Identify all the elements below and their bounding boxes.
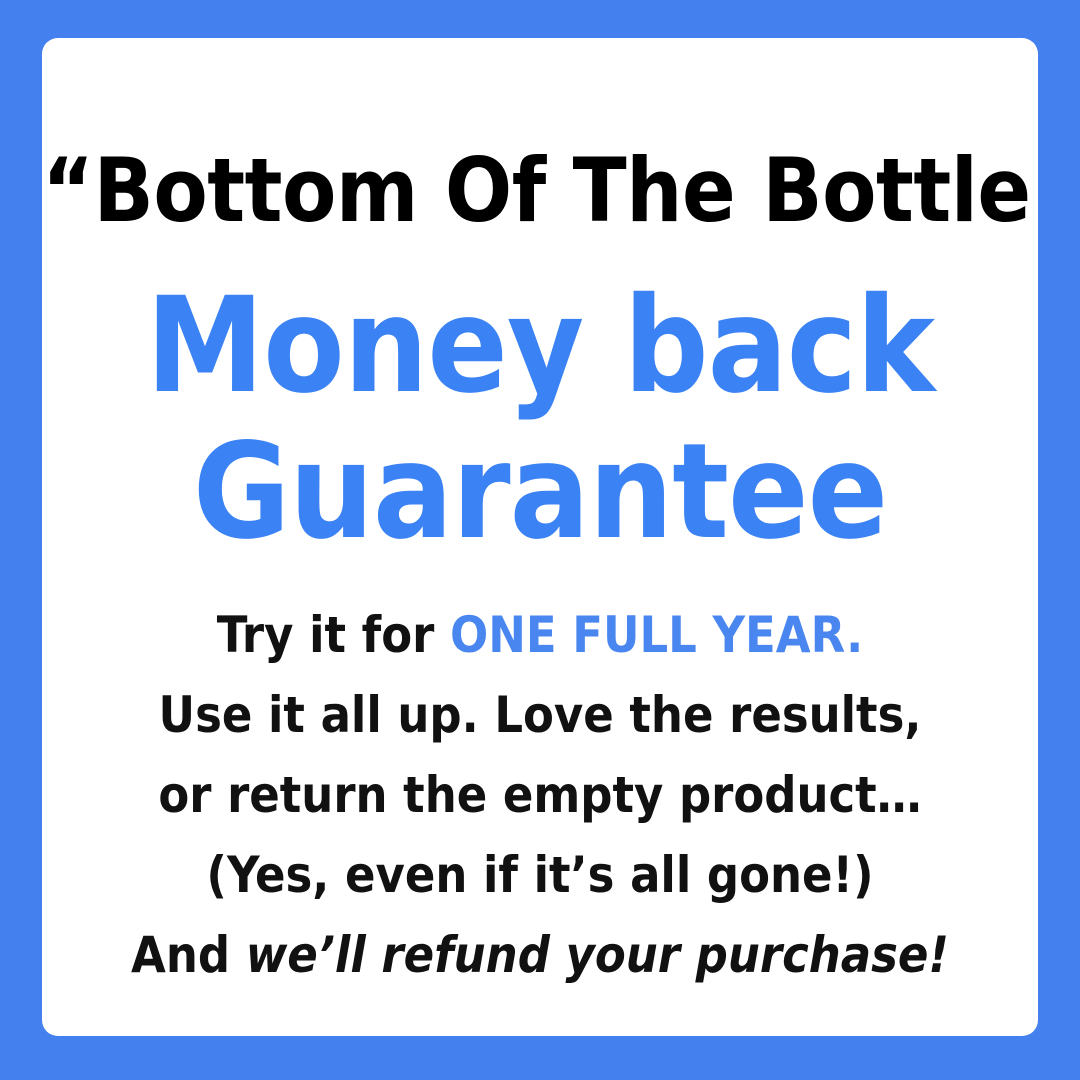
body-line-four: (Yes, even if it’s all gone!) xyxy=(42,846,1038,904)
headline-line-one: Money back xyxy=(42,270,1038,421)
eyebrow-text: “Bottom Of The Bottle” xyxy=(42,139,1038,242)
money-back-guarantee-card: “Bottom Of The Bottle” Money back Guaran… xyxy=(0,0,1080,1080)
body-line-two-text: Use it all up. Love the results, xyxy=(159,686,922,744)
headline-text-money-back: Money back xyxy=(146,269,934,423)
body-line-five-italic: we’ll refund your purchase! xyxy=(246,926,949,984)
eyebrow-heading: “Bottom Of The Bottle” xyxy=(42,140,1038,242)
headline-line-two: Guarantee xyxy=(42,416,1038,567)
body-line-one-wrap: Try it for ONE FULL YEAR. xyxy=(217,606,864,664)
body-line-one-accent: ONE FULL YEAR. xyxy=(450,606,863,664)
body-line-one: Try it for ONE FULL YEAR. xyxy=(42,606,1038,664)
body-line-three: or return the empty product… xyxy=(42,766,1038,824)
body-line-four-text: (Yes, even if it’s all gone!) xyxy=(206,846,873,904)
body-line-two: Use it all up. Love the results, xyxy=(42,686,1038,744)
card-inner-panel: “Bottom Of The Bottle” Money back Guaran… xyxy=(42,38,1038,1036)
headline-text-guarantee: Guarantee xyxy=(193,415,887,569)
body-line-five: And we’ll refund your purchase! xyxy=(42,926,1038,984)
body-line-five-wrap: And we’ll refund your purchase! xyxy=(131,926,949,984)
body-line-three-text: or return the empty product… xyxy=(158,766,921,824)
body-line-five-prefix: And xyxy=(131,926,246,984)
body-line-one-prefix: Try it for xyxy=(217,606,450,664)
